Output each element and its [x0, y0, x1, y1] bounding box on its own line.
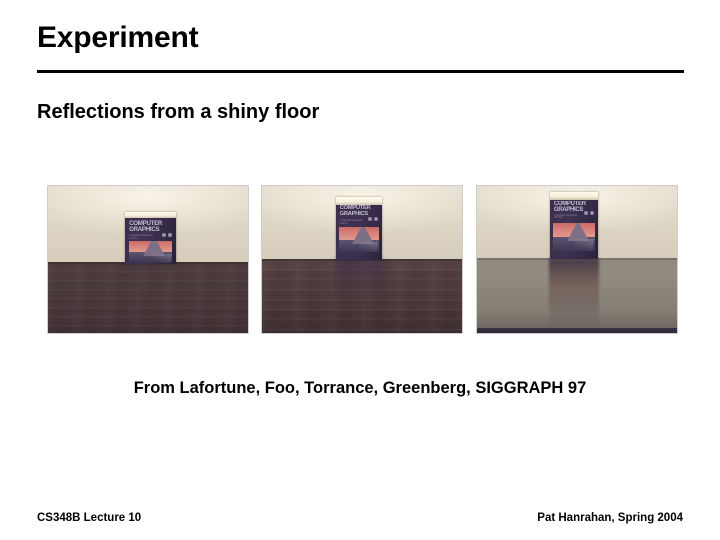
artwork-road: [150, 254, 172, 263]
book-cover-badges: [162, 233, 172, 237]
footer-course-label: CS348B Lecture 10: [37, 512, 141, 524]
floor-surface-mirror: [477, 258, 677, 333]
artwork-road: [573, 239, 594, 251]
badge-dot-icon: [374, 217, 378, 221]
slide: Experiment Reflections from a shiny floo…: [0, 0, 720, 540]
badge-dot-icon: [162, 233, 166, 237]
book-cover-artwork: [339, 227, 379, 252]
book-top-highlight: [550, 192, 598, 200]
badge-dot-icon: [584, 211, 588, 215]
artwork-road: [358, 242, 378, 253]
photo-strip: COMPUTER GRAPHICS A Siggraph Newsletter …: [48, 186, 678, 333]
book-top-highlight: [336, 197, 382, 205]
book-cover-subtitle: A Siggraph Newsletter Volume: [554, 215, 580, 220]
badge-dot-icon: [168, 233, 172, 237]
photo-matte-floor: COMPUTER GRAPHICS A Siggraph Newsletter …: [48, 186, 248, 333]
book-computer-graphics: COMPUTER GRAPHICS A Siggraph Newsletter …: [336, 197, 382, 260]
title-divider: [37, 70, 684, 73]
book-cover-artwork: [553, 223, 594, 251]
page-title: Experiment: [37, 20, 198, 56]
book-cover-title: COMPUTER GRAPHICS: [554, 201, 588, 213]
photo-glossy-floor: COMPUTER GRAPHICS A Siggraph Newsletter …: [262, 186, 462, 333]
source-caption: From Lafortune, Foo, Torrance, Greenberg…: [0, 379, 720, 398]
photo-mirror-floor: COMPUTER GRAPHICS A Siggraph Newsletter …: [477, 186, 677, 333]
book-cover-badges: [368, 217, 378, 221]
book-cover-subtitle: A Siggraph Newsletter Volume: [129, 235, 157, 240]
slide-subtitle: Reflections from a shiny floor: [37, 99, 319, 125]
book-cover-subtitle: A Siggraph Newsletter Volume: [340, 220, 365, 225]
book-cover-title: COMPUTER GRAPHICS: [340, 206, 372, 218]
floor-far-edge: [477, 328, 677, 333]
book-cover-badges: [584, 211, 594, 215]
book-top-highlight: [125, 212, 176, 218]
book-cover-artwork: [129, 241, 173, 263]
floor-surface-matte: [48, 262, 248, 333]
footer-author-label: Pat Hanrahan, Spring 2004: [537, 512, 683, 524]
book-cover-title: COMPUTER GRAPHICS: [129, 221, 165, 234]
badge-dot-icon: [368, 217, 372, 221]
badge-dot-icon: [590, 211, 594, 215]
book-computer-graphics: COMPUTER GRAPHICS A Siggraph Newsletter …: [125, 212, 176, 264]
floor-surface-glossy: [262, 259, 462, 333]
book-computer-graphics: COMPUTER GRAPHICS A Siggraph Newsletter …: [550, 192, 598, 259]
